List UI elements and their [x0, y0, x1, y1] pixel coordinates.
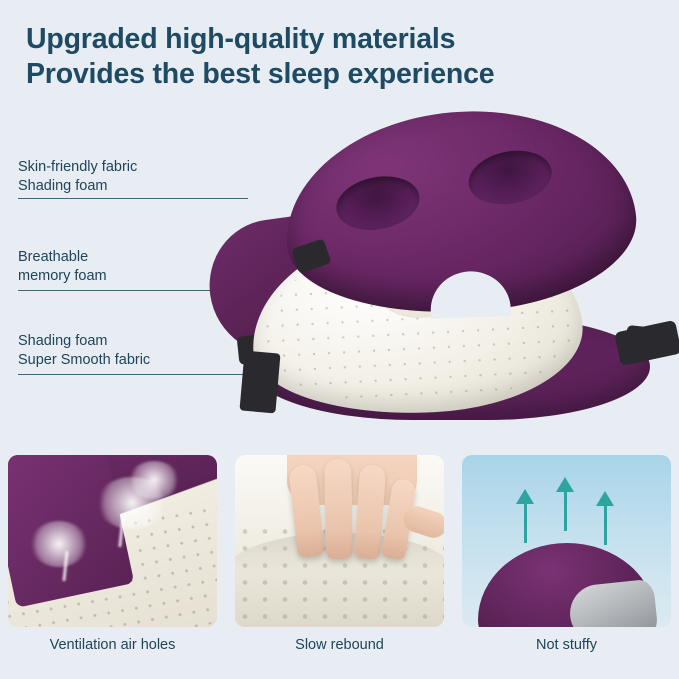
callout-2-line-1: Breathable — [18, 249, 88, 265]
panel-1-steam-left — [30, 521, 88, 567]
callout-shading-foam-smooth-fabric: Shading foam Super Smooth fabric — [18, 332, 150, 369]
airflow-arrow-right-head — [596, 491, 614, 506]
panel-ventilation-air-holes — [8, 455, 217, 627]
sleep-mask-illustration — [190, 100, 679, 452]
airflow-arrow-left-head — [516, 489, 534, 504]
headline-block: Upgraded high-quality materials Provides… — [26, 22, 666, 92]
callout-3-line-2: Super Smooth fabric — [18, 351, 150, 370]
caption-slow-rebound: Slow rebound — [235, 637, 444, 653]
callout-skin-friendly-fabric: Skin-friendly fabric Shading foam — [18, 158, 137, 195]
product-infographic: Upgraded high-quality materials Provides… — [0, 0, 679, 679]
panel-not-stuffy — [462, 455, 671, 627]
headline-line-1: Upgraded high-quality materials — [26, 22, 666, 57]
mask-strap-loop-bottom — [239, 351, 280, 414]
airflow-arrow-left-shaft — [524, 503, 527, 543]
airflow-arrow-center-shaft — [564, 491, 567, 531]
panel-2-finger-2 — [324, 459, 353, 559]
callout-3-line-1: Shading foam — [18, 333, 107, 349]
feature-panels: Ventilation air holes Slow rebound Not s… — [0, 455, 679, 679]
callout-breathable-memory-foam: Breathable memory foam — [18, 248, 107, 285]
panel-1-steam-top — [128, 461, 180, 499]
caption-ventilation-air-holes: Ventilation air holes — [8, 637, 217, 653]
airflow-arrow-center-head — [556, 477, 574, 492]
mask-top-purple-layer — [277, 97, 643, 327]
hero-image: Skin-friendly fabric Shading foam Breath… — [0, 100, 679, 452]
callout-1-line-2: Shading foam — [18, 177, 137, 196]
caption-not-stuffy: Not stuffy — [462, 637, 671, 653]
callout-1-line-1: Skin-friendly fabric — [18, 159, 137, 175]
panel-slow-rebound — [235, 455, 444, 627]
airflow-arrow-right-shaft — [604, 505, 607, 545]
headline-line-2: Provides the best sleep experience — [26, 57, 666, 92]
callout-2-line-2: memory foam — [18, 267, 107, 286]
